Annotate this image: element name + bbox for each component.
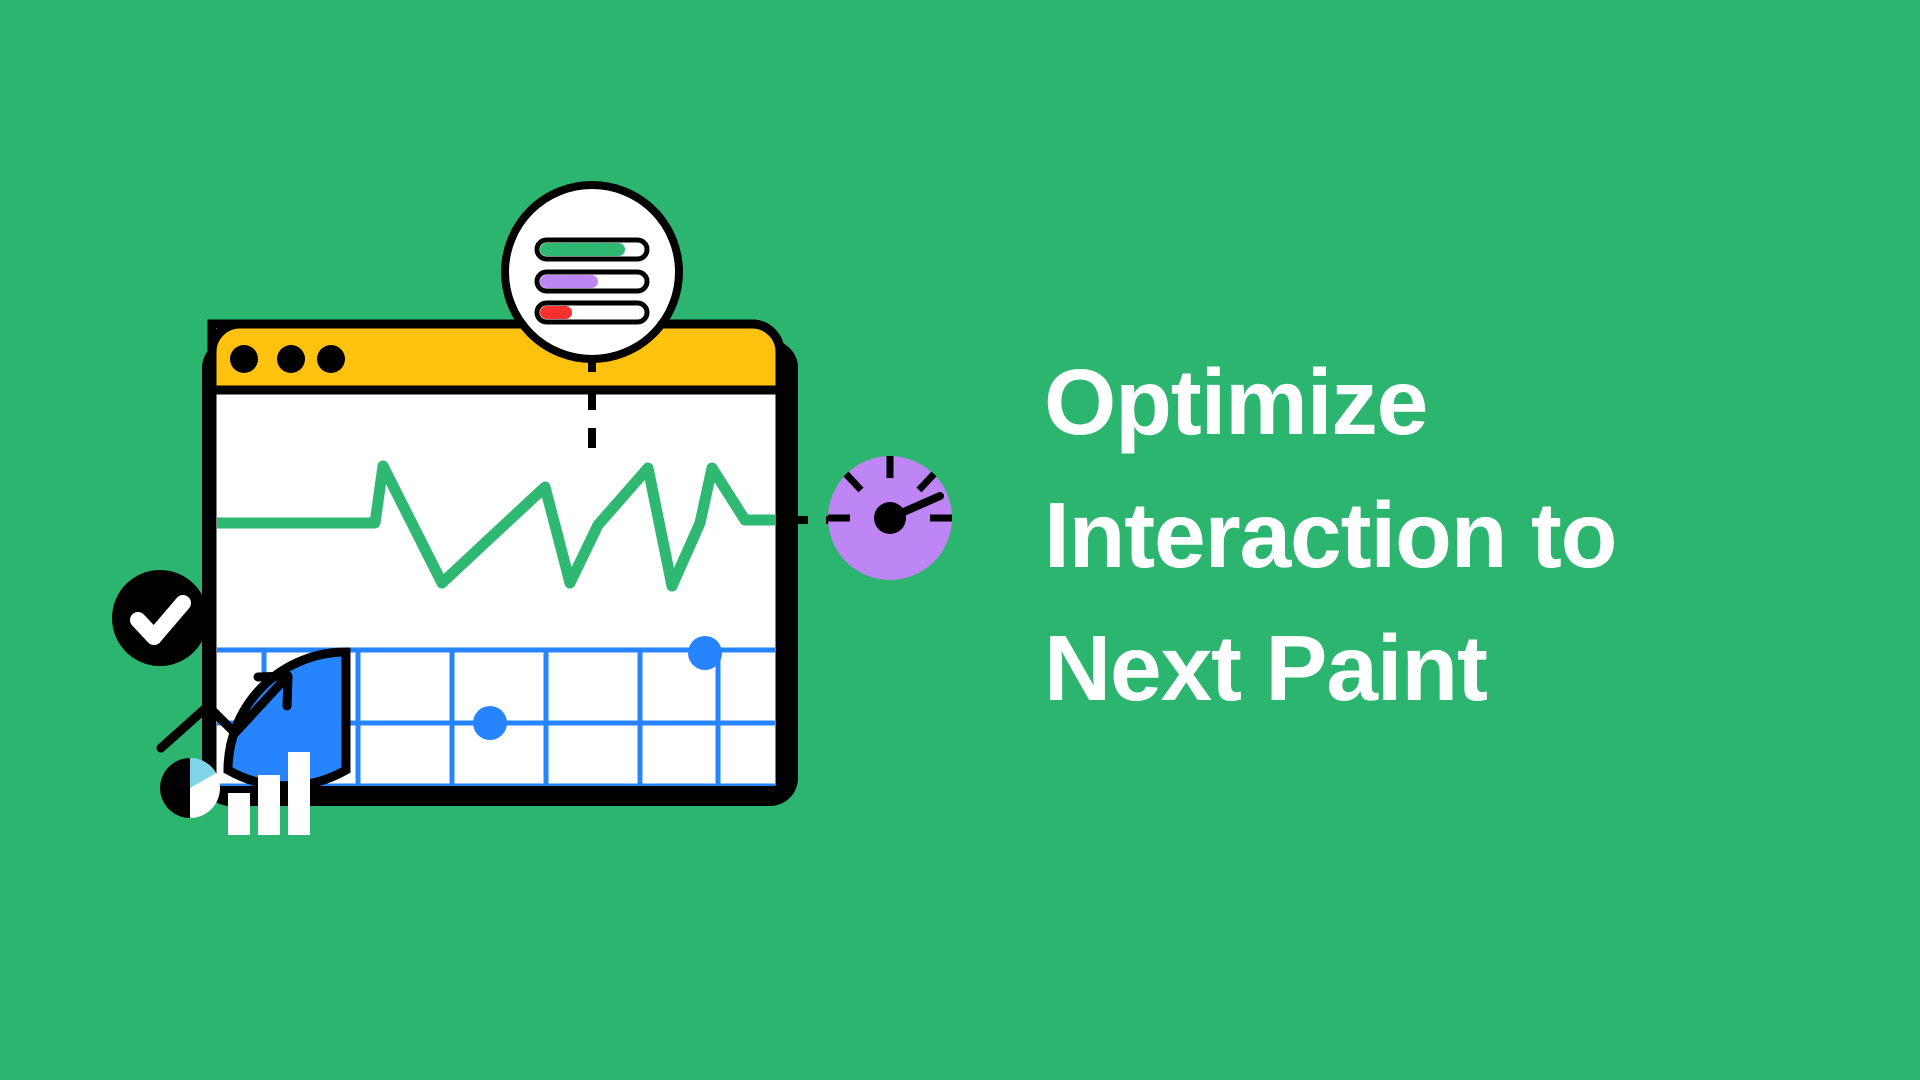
page-title-line-2: Interaction to [1044,469,1874,602]
window-dot-group[interactable] [230,345,345,373]
hero-banner: Optimize Interaction to Next Paint [0,0,1920,1080]
check-badge[interactable] [112,570,208,666]
red-progress-bar [537,303,647,322]
scatter-point[interactable] [688,636,722,670]
speed-gauge-badge[interactable] [828,456,952,580]
window-dot-minimize[interactable] [277,345,305,373]
gauge-hub [874,502,906,534]
window-dot-maximize[interactable] [317,345,345,373]
window-dot-close[interactable] [230,345,258,373]
page-title: Optimize Interaction to Next Paint [1044,336,1874,735]
page-title-line-3: Next Paint [1044,602,1874,735]
progress-bars-bubble[interactable] [505,185,679,359]
scatter-point[interactable] [473,706,507,740]
pie-chart-icon [160,758,220,818]
page-title-line-1: Optimize [1044,336,1874,469]
performance-dashboard-illustration [0,0,1060,1080]
purple-progress-bar [537,272,647,291]
green-progress-bar [537,240,647,259]
